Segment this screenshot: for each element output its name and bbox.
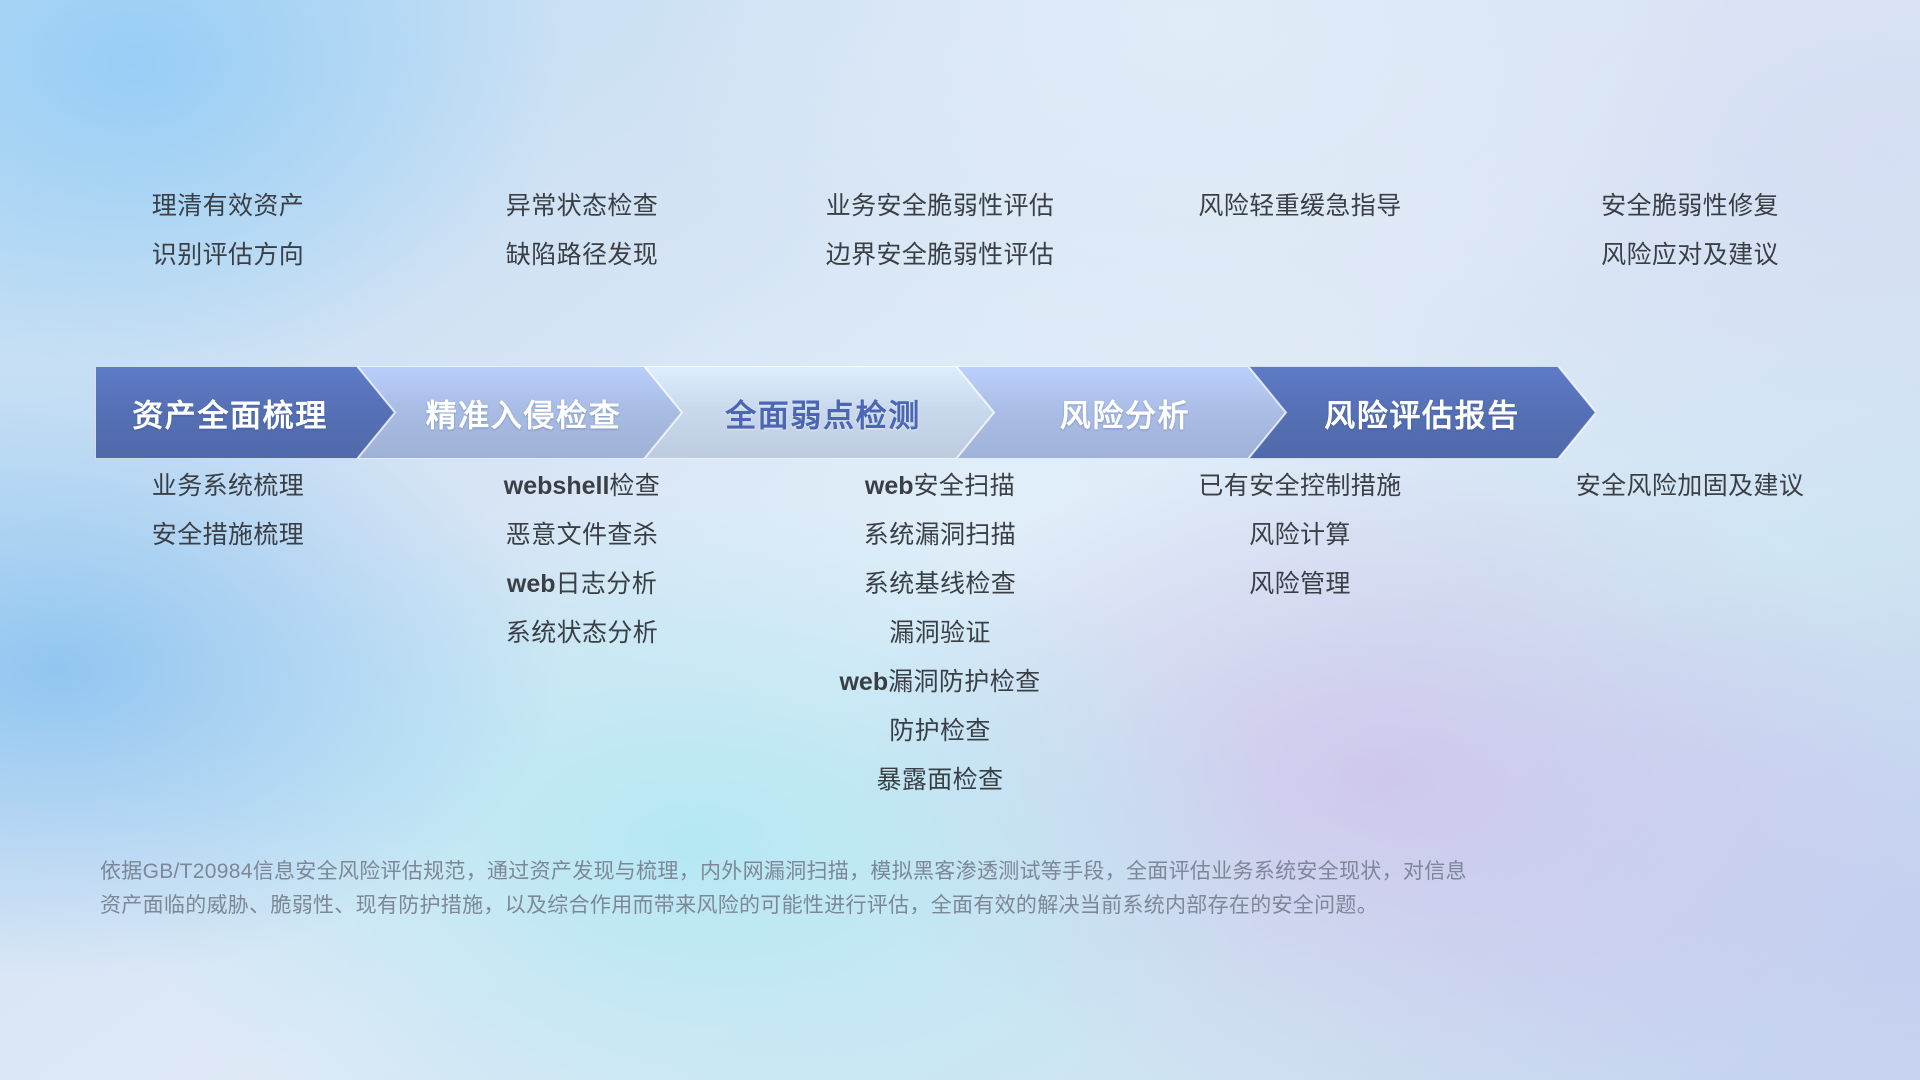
detail-item: 风险计算 — [1249, 511, 1351, 560]
detail-column-4: 已有安全控制措施风险计算风险管理 — [1198, 462, 1401, 609]
stage-label-1: 资产全面梳理 — [132, 390, 328, 435]
detail-item: 系统基线检查 — [864, 560, 1016, 609]
top-label-item: 安全脆弱性修复 — [1601, 182, 1779, 231]
top-labels-row: 理清有效资产识别评估方向异常状态检查缺陷路径发现业务安全脆弱性评估边界安全脆弱性… — [0, 182, 1920, 322]
detail-item: 安全风险加固及建议 — [1576, 462, 1805, 511]
detail-column-5: 安全风险加固及建议 — [1576, 462, 1805, 511]
stage-label-2: 精准入侵检查 — [426, 390, 622, 435]
bottom-details-row: 业务系统梳理安全措施梳理webshell检查恶意文件查杀web日志分析系统状态分… — [0, 462, 1920, 722]
footer-line-1: 依据GB/T20984信息安全风险评估规范，通过资产发现与梳理，内外网漏洞扫描，… — [100, 855, 1660, 889]
footer-description: 依据GB/T20984信息安全风险评估规范，通过资产发现与梳理，内外网漏洞扫描，… — [100, 855, 1660, 923]
detail-item: web安全扫描 — [865, 462, 1015, 511]
top-label-item: 异常状态检查 — [506, 182, 658, 231]
stage-label-5: 风险评估报告 — [1324, 390, 1520, 435]
top-label-item: 识别评估方向 — [152, 231, 304, 280]
stage-label-4: 风险分析 — [1060, 390, 1190, 435]
detail-column-1: 业务系统梳理安全措施梳理 — [152, 462, 304, 560]
detail-item: 暴露面检查 — [876, 756, 1003, 805]
stage-chevron-2[interactable]: 精准入侵检查 — [357, 366, 690, 459]
detail-column-3: web安全扫描系统漏洞扫描系统基线检查漏洞验证web漏洞防护检查防护检查暴露面检… — [839, 462, 1040, 805]
top-label-column-3: 业务安全脆弱性评估边界安全脆弱性评估 — [826, 182, 1055, 280]
process-chevron-band: 资产全面梳理 精准入侵检查 全面弱点检测 — [95, 366, 1845, 459]
slide-canvas: 理清有效资产识别评估方向异常状态检查缺陷路径发现业务安全脆弱性评估边界安全脆弱性… — [0, 0, 1920, 1080]
top-label-item: 风险轻重缓急指导 — [1198, 182, 1401, 231]
detail-item: 风险管理 — [1249, 560, 1351, 609]
top-label-column-5: 安全脆弱性修复风险应对及建议 — [1601, 182, 1779, 280]
top-label-item: 业务安全脆弱性评估 — [826, 182, 1055, 231]
detail-item: 防护检查 — [889, 707, 991, 756]
top-label-column-2: 异常状态检查缺陷路径发现 — [506, 182, 658, 280]
detail-item: webshell检查 — [504, 462, 660, 511]
detail-item: 安全措施梳理 — [152, 511, 304, 560]
detail-column-2: webshell检查恶意文件查杀web日志分析系统状态分析 — [504, 462, 660, 658]
detail-item: web漏洞防护检查 — [839, 658, 1040, 707]
detail-item: 恶意文件查杀 — [506, 511, 658, 560]
detail-item: 系统状态分析 — [506, 609, 658, 658]
detail-item: 漏洞验证 — [889, 609, 991, 658]
top-label-item: 风险应对及建议 — [1601, 231, 1779, 280]
stage-label-3: 全面弱点检测 — [725, 390, 921, 435]
detail-item: 系统漏洞扫描 — [864, 511, 1016, 560]
stage-chevron-3[interactable]: 全面弱点检测 — [644, 366, 1002, 459]
detail-item: 已有安全控制措施 — [1198, 462, 1401, 511]
detail-item: 业务系统梳理 — [152, 462, 304, 511]
top-label-column-4: 风险轻重缓急指导 — [1198, 182, 1401, 231]
stage-chevron-4[interactable]: 风险分析 — [956, 366, 1294, 459]
detail-item: web日志分析 — [507, 560, 657, 609]
stage-chevron-5[interactable]: 风险评估报告 — [1248, 366, 1596, 459]
top-label-item: 理清有效资产 — [152, 182, 304, 231]
footer-line-2: 资产面临的威胁、脆弱性、现有防护措施，以及综合作用而带来风险的可能性进行评估，全… — [100, 889, 1660, 923]
top-label-item: 边界安全脆弱性评估 — [826, 231, 1055, 280]
top-label-item: 缺陷路径发现 — [506, 231, 658, 280]
top-label-column-1: 理清有效资产识别评估方向 — [152, 182, 304, 280]
